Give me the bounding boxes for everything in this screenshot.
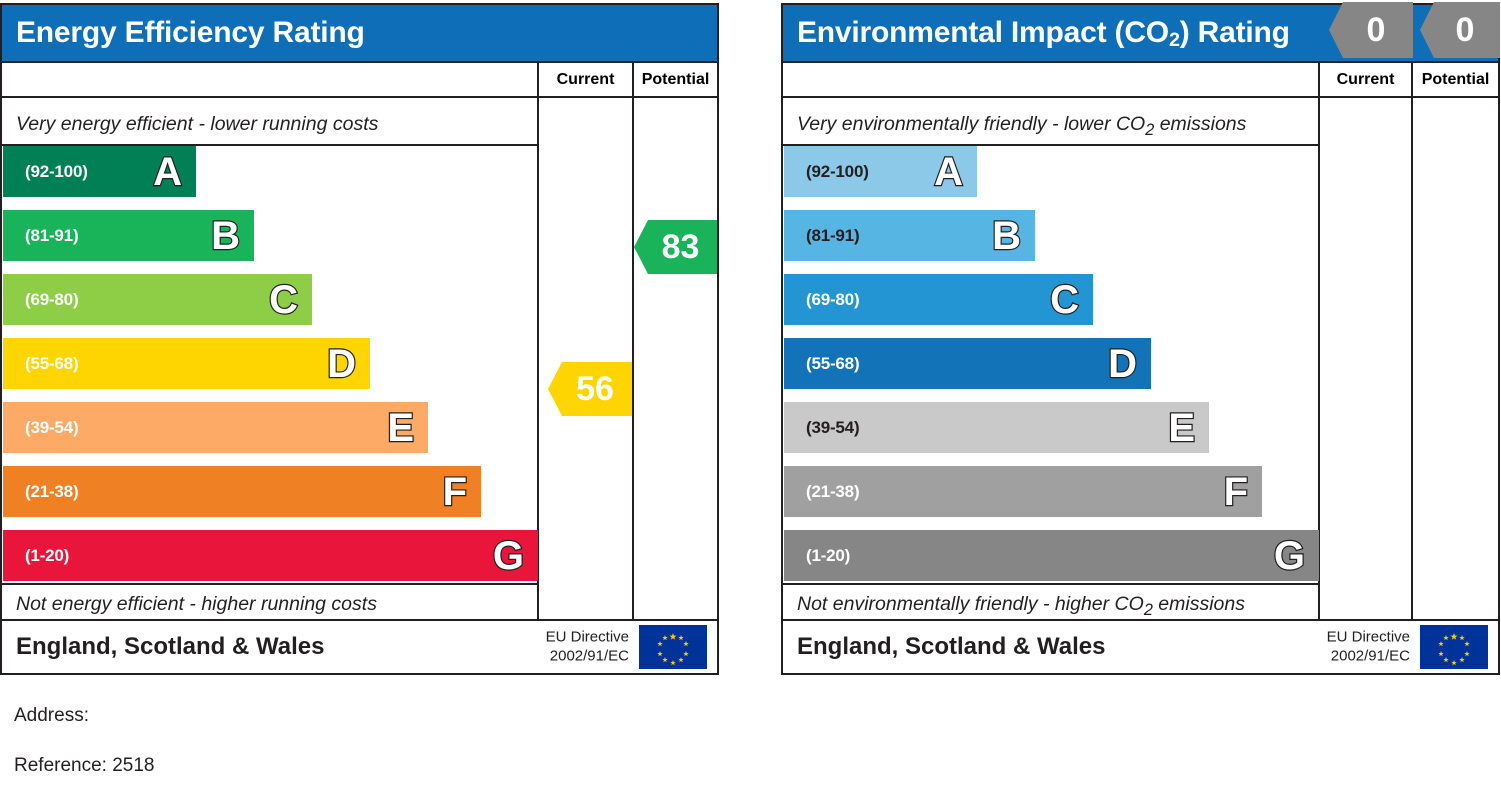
band-c: (69-80) C: [3, 274, 312, 325]
header-current-co2: Current: [1318, 63, 1411, 96]
footer-region-co2: England, Scotland & Wales: [797, 633, 1105, 661]
co2-chart-header-row: Current Potential: [783, 61, 1498, 98]
band-d-letter-co2: D: [1108, 344, 1137, 384]
potential-rating-value-co2: 0: [1456, 11, 1475, 50]
footer-region: England, Scotland & Wales: [16, 633, 324, 661]
energy-efficiency-rating-chart: Energy Efficiency Rating Current Potenti…: [0, 3, 719, 675]
band-b-letter-co2: B: [992, 216, 1021, 256]
caption-not-friendly: Not environmentally friendly - higher CO…: [797, 593, 1245, 620]
footer-eu-directive-co2: EU Directive 2002/91/EC: [1327, 628, 1410, 666]
band-g-letter: G: [493, 536, 524, 576]
header-blank-cell: [2, 63, 537, 96]
band-b-co2: (81-91) B: [784, 210, 1035, 261]
column-rule-potential: [632, 98, 634, 621]
energy-chart-footer: England, Scotland & Wales EU Directive 2…: [2, 619, 717, 673]
page-title: Energy Efficiency Rating: [16, 16, 365, 50]
band-d-co2: (55-68) D: [784, 338, 1151, 389]
energy-chart-header-row: Current Potential: [2, 61, 717, 98]
band-c-letter: C: [269, 280, 298, 320]
band-g-range-co2: (1-20): [806, 546, 850, 566]
potential-rating-badge-co2: 0: [1420, 2, 1500, 58]
band-e-letter: E: [387, 408, 414, 448]
caption-bottom-rule-co2: [783, 583, 1318, 585]
eu-flag-icon-co2: [1420, 625, 1488, 669]
eu-flag-icon: [639, 625, 707, 669]
header-current: Current: [537, 63, 632, 96]
band-f-co2: (21-38) F: [784, 466, 1262, 517]
band-a: (92-100) A: [3, 146, 196, 197]
band-d-range-co2: (55-68): [806, 354, 859, 374]
potential-rating-badge: 83: [634, 220, 717, 274]
caption-very-friendly: Very environmentally friendly - lower CO…: [797, 113, 1246, 140]
caption-not-efficient: Not energy efficient - higher running co…: [16, 593, 377, 616]
footer-directive-line2: 2002/91/EC: [546, 647, 629, 666]
co2-chart-footer: England, Scotland & Wales EU Directive 2…: [783, 619, 1498, 673]
band-e-co2: (39-54) E: [784, 402, 1209, 453]
band-a-range-co2: (92-100): [806, 162, 869, 182]
band-d: (55-68) D: [3, 338, 370, 389]
footer-directive-line2-co2: 2002/91/EC: [1327, 647, 1410, 666]
band-e: (39-54) E: [3, 402, 428, 453]
band-a-range: (92-100): [25, 162, 88, 182]
band-f-range: (21-38): [25, 482, 78, 502]
band-c-letter-co2: C: [1050, 280, 1079, 320]
header-potential: Potential: [632, 63, 717, 96]
footer-directive-line1-co2: EU Directive: [1327, 628, 1410, 647]
current-rating-badge: 56: [548, 362, 632, 416]
band-b: (81-91) B: [3, 210, 254, 261]
band-g-letter-co2: G: [1274, 536, 1305, 576]
band-f: (21-38) F: [3, 466, 481, 517]
band-g-co2: (1-20) G: [784, 530, 1319, 581]
band-f-letter-co2: F: [1224, 472, 1248, 512]
band-d-letter: D: [327, 344, 356, 384]
band-e-range: (39-54): [25, 418, 78, 438]
band-a-letter: A: [153, 152, 182, 192]
band-f-letter: F: [443, 472, 467, 512]
band-b-letter: B: [211, 216, 240, 256]
co2-subscript: 2: [1169, 29, 1180, 51]
address-label: Address:: [14, 705, 89, 727]
current-rating-value-co2: 0: [1367, 11, 1386, 50]
current-rating-value: 56: [576, 370, 614, 409]
environmental-impact-rating-chart: Environmental Impact (CO2) Rating Curren…: [781, 3, 1500, 675]
band-a-letter-co2: A: [934, 152, 963, 192]
band-b-range: (81-91): [25, 226, 78, 246]
page-title-co2: Environmental Impact (CO2) Rating: [797, 16, 1290, 50]
band-f-range-co2: (21-38): [806, 482, 859, 502]
potential-rating-value: 83: [662, 228, 700, 267]
band-c-co2: (69-80) C: [784, 274, 1093, 325]
co2-subscript-bottom: 2: [1144, 601, 1153, 619]
band-c-range-co2: (69-80): [806, 290, 859, 310]
band-e-letter-co2: E: [1168, 408, 1195, 448]
band-c-range: (69-80): [25, 290, 78, 310]
caption-bottom-rule: [2, 583, 537, 585]
caption-very-efficient: Very energy efficient - lower running co…: [16, 113, 378, 136]
band-a-co2: (92-100) A: [784, 146, 977, 197]
band-g-range: (1-20): [25, 546, 69, 566]
band-d-range: (55-68): [25, 354, 78, 374]
reference-label: Reference: 2518: [14, 755, 155, 777]
header-potential-co2: Potential: [1411, 63, 1498, 96]
footer-eu-directive: EU Directive 2002/91/EC: [546, 628, 629, 666]
header-blank-cell-co2: [783, 63, 1318, 96]
energy-chart-title-bar: Energy Efficiency Rating: [2, 5, 717, 61]
band-b-range-co2: (81-91): [806, 226, 859, 246]
column-rule-potential-co2: [1411, 98, 1413, 621]
current-rating-badge-co2: 0: [1329, 2, 1413, 58]
co2-subscript-top: 2: [1145, 121, 1154, 139]
band-e-range-co2: (39-54): [806, 418, 859, 438]
footer-directive-line1: EU Directive: [546, 628, 629, 647]
band-g: (1-20) G: [3, 530, 538, 581]
